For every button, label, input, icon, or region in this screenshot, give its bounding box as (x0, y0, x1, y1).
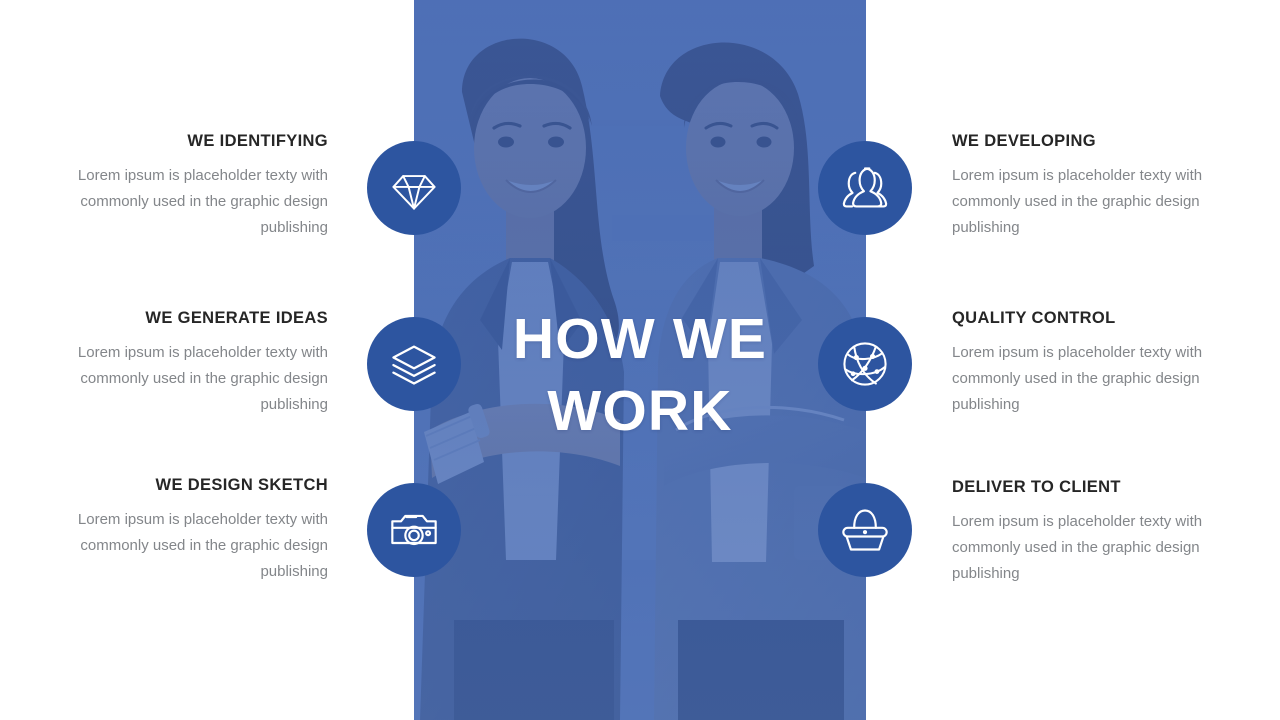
feature-title: WE DESIGN SKETCH (62, 476, 328, 495)
icon-circle-quality-control[interactable] (818, 317, 912, 411)
feature-block-we-generate-ideas: WE GENERATE IDEAS Lorem ipsum is placeho… (62, 309, 328, 418)
basket-icon (839, 504, 891, 556)
diamond-icon (388, 162, 440, 214)
icon-circle-we-design-sketch[interactable] (367, 483, 461, 577)
feature-title: WE GENERATE IDEAS (62, 309, 328, 328)
feature-body: Lorem ipsum is placeholder texty with co… (952, 509, 1218, 587)
icon-circle-we-identifying[interactable] (367, 141, 461, 235)
layers-icon (388, 338, 440, 390)
feature-block-quality-control: QUALITY CONTROL Lorem ipsum is placehold… (952, 309, 1228, 418)
feature-title: WE DEVELOPING (952, 132, 1218, 151)
icon-circle-we-developing[interactable] (818, 141, 912, 235)
icon-circle-deliver-to-client[interactable] (818, 483, 912, 577)
feature-title: QUALITY CONTROL (952, 309, 1228, 328)
feature-block-deliver-to-client: DELIVER TO CLIENT Lorem ipsum is placeho… (952, 478, 1218, 587)
feature-block-we-identifying: WE IDENTIFYING Lorem ipsum is placeholde… (62, 132, 328, 241)
feature-body: Lorem ipsum is placeholder texty with co… (62, 163, 328, 241)
feature-title: DELIVER TO CLIENT (952, 478, 1218, 497)
feature-body: Lorem ipsum is placeholder texty with co… (952, 163, 1218, 241)
feature-block-we-design-sketch: WE DESIGN SKETCH Lorem ipsum is placehol… (62, 476, 328, 585)
page-title: HOW WE WORK (414, 304, 866, 448)
camera-icon (388, 504, 440, 556)
icon-circle-we-generate-ideas[interactable] (367, 317, 461, 411)
center-image-panel: HOW WE WORK (414, 0, 866, 720)
globe-network-icon (839, 338, 891, 390)
feature-body: Lorem ipsum is placeholder texty with co… (952, 340, 1228, 418)
feature-body: Lorem ipsum is placeholder texty with co… (62, 507, 328, 585)
feature-block-we-developing: WE DEVELOPING Lorem ipsum is placeholder… (952, 132, 1218, 241)
feature-body: Lorem ipsum is placeholder texty with co… (62, 340, 328, 418)
feature-title: WE IDENTIFYING (62, 132, 328, 151)
users-group-icon (839, 162, 891, 214)
